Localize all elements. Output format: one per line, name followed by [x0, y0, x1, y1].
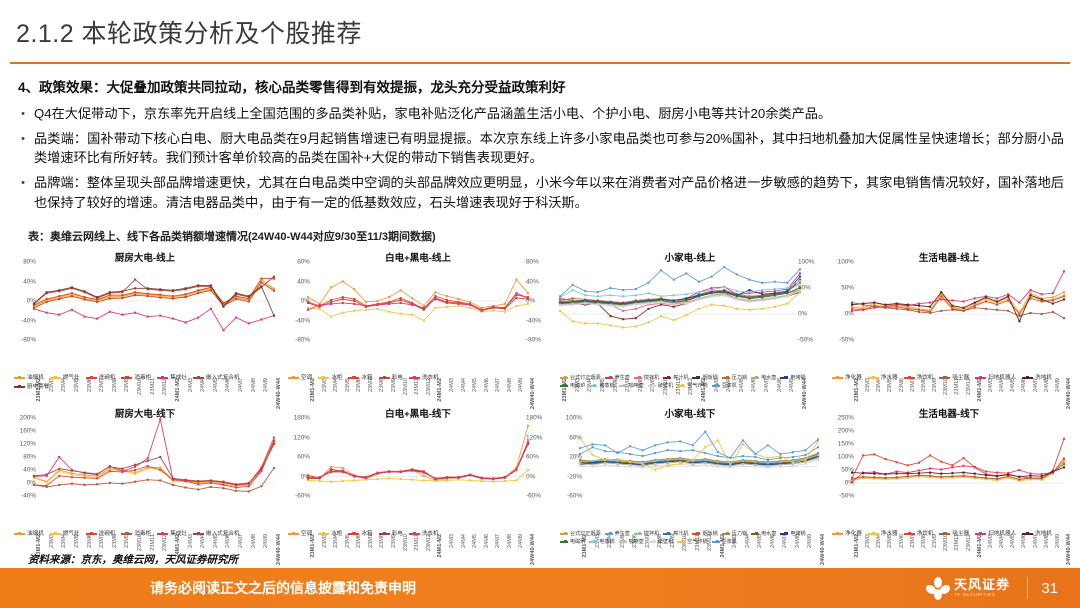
x-tick-label: 24W40-W44 [1066, 534, 1072, 565]
legend-label: 吸尘器 [952, 374, 969, 382]
plot-area [282, 418, 554, 496]
legend-swatch-icon [904, 533, 915, 535]
legend-label: 电蒸锅 [599, 382, 614, 390]
legend-item: 净饮机 [904, 374, 934, 382]
bullet-text: 品类端：国补带动下核心白电、厨大电品类在9月起销售增速已有明显提振。本次京东线上… [34, 129, 1064, 169]
chart-title: 白电+黑电-线上 [282, 250, 554, 264]
legend-item: 电水壶 [751, 374, 776, 382]
legend-item: 吸尘器 [939, 374, 969, 382]
legend-label: 冰箱 [361, 530, 372, 538]
chart-white-black-offline: 白电+黑电-线下180%120%60%0%-60%180%120%60%0%-6… [282, 404, 554, 556]
legend-swatch-icon [560, 533, 568, 535]
legend-item: 净化器 [832, 374, 862, 382]
legend-label: 油烟机 [27, 374, 44, 382]
legend-item: 洗碗机 [86, 374, 116, 382]
legend-label: 空调 [301, 530, 312, 538]
legend-item: 空气炸锅 [677, 382, 707, 390]
plot-area [554, 418, 826, 496]
legend-label: 破壁机 [658, 538, 673, 546]
legend-item: 嵌入式复合机 [193, 374, 240, 382]
chart-legend: 油烟机燃气灶洗碗机消毒柜集成灶嵌入式复合机厨电套餐 [14, 374, 278, 391]
legend-swatch-icon [605, 377, 613, 379]
legend-label: 厨电套餐 [27, 383, 49, 391]
legend-label: 油烟机 [27, 530, 44, 538]
legend-label: 燃气灶 [63, 374, 80, 382]
legend-swatch-icon [318, 377, 329, 379]
legend-label: 豆浆机 [722, 382, 737, 390]
chart-legend: 净化器净水器净饮机吸尘器扫地机器人洗地机 [832, 530, 1068, 538]
legend-item: 洗碗机 [86, 530, 116, 538]
legend-item: 嵌入式复合机 [193, 530, 240, 538]
legend-item: 消毒柜 [121, 530, 151, 538]
legend-label: 冰柜 [331, 530, 342, 538]
legend-swatch-icon [157, 377, 168, 379]
legend-swatch-icon [14, 533, 25, 535]
legend-item: 彩电 [379, 374, 403, 382]
charts-grid: 厨房大电-线上80%40%0%-40%-80%23M1-M223M323M423… [8, 248, 1072, 556]
legend-item: 油烟机 [14, 530, 44, 538]
legend-item: 净化器 [832, 530, 862, 538]
chart-living-appliance-offline: 生活电器-线下250%200%150%100%50%0%-50%23M1-M22… [826, 404, 1072, 556]
legend-label: 净水器 [881, 530, 898, 538]
legend-item: 空气炸锅 [677, 538, 707, 546]
chart-kitchen-major-online: 厨房大电-线上80%40%0%-40%-80%23M1-M223M323M423… [8, 248, 282, 400]
policy-effect-heading: 4、政策效果：大促叠加政策共同拉动，核心品类零售得到有效提振，龙头充分受益政策利… [18, 78, 1064, 98]
chart-title: 生活电器-线下 [826, 406, 1072, 420]
chart-title: 生活电器-线上 [826, 250, 1072, 264]
legend-swatch-icon [86, 377, 97, 379]
legend-label: 扫地机器人 [988, 374, 1016, 382]
legend-item: 扫地机器人 [975, 530, 1016, 538]
legend-label: 净化器 [845, 530, 862, 538]
legend-item: 养生壶 [605, 530, 630, 538]
legend-item: 压力锅 [722, 530, 747, 538]
brand-logo: 天风证券 TF SECURITIES [927, 577, 1010, 599]
legend-label: 彩电 [392, 530, 403, 538]
legend-item: 扫地机器人 [975, 374, 1016, 382]
legend-label: 压力锅 [732, 530, 747, 538]
chart-legend: 净化器净水器净饮机吸尘器扫地机器人洗地机 [832, 374, 1068, 382]
legend-swatch-icon [14, 386, 25, 388]
legend-item: 养生壶 [605, 374, 630, 382]
legend-swatch-icon [121, 377, 132, 379]
plot-area [8, 418, 282, 496]
legend-item: 搅拌机 [634, 374, 659, 382]
legend-swatch-icon [634, 533, 642, 535]
legend-swatch-icon [868, 377, 879, 379]
legend-label: 洗地机 [1035, 374, 1052, 382]
legend-item: 榨汁机 [663, 530, 688, 538]
legend-swatch-icon [348, 533, 359, 535]
page-separator [1027, 577, 1028, 599]
legend-label: 电磁炉 [570, 538, 585, 546]
legend-item: 冰柜 [318, 530, 342, 538]
legend-swatch-icon [589, 541, 597, 543]
legend-label: 集成灶 [170, 530, 187, 538]
legend-item: 电水壶 [751, 530, 776, 538]
legend-swatch-icon [193, 533, 204, 535]
legend-item: 破壁机 [648, 538, 673, 546]
legend-item: 搅拌机 [634, 530, 659, 538]
legend-label: 净饮机 [917, 530, 934, 538]
legend-label: 电磁炉 [570, 382, 585, 390]
table-caption: 表：奥维云网线上、线下各品类销额增速情况(24W40-W44对应9/30至11/… [28, 228, 436, 244]
legend-item: 压力锅 [722, 374, 747, 382]
chart-title: 小家电-线上 [554, 250, 826, 264]
legend-swatch-icon [560, 541, 568, 543]
legend-swatch-icon [677, 541, 685, 543]
legend-swatch-icon [975, 377, 986, 379]
plot-area [554, 262, 826, 340]
legend-swatch-icon [560, 385, 568, 387]
legend-label: 洗衣机 [422, 374, 439, 382]
legend-item: 冰箱 [348, 374, 372, 382]
chart-title: 厨房大电-线下 [8, 406, 282, 420]
charts-row-offline: 厨房大电-线下200%160%120%80%40%0%-40%23M1-M223… [8, 404, 1072, 556]
plot-area [282, 262, 554, 340]
chart-small-appliance-offline: 小家电-线下100%60%20%-20%-60%23M1-M223M323M42… [554, 404, 826, 556]
legend-swatch-icon [975, 533, 986, 535]
bullet-text: 品牌端：整体呈现头部品牌增速更快，尤其在白电品类中空调的头部品牌效应更明显，小米… [34, 173, 1064, 213]
legend-label: 破壁机 [658, 382, 673, 390]
legend-swatch-icon [722, 533, 730, 535]
chart-legend: 空调冰柜冰箱彩电洗衣机 [288, 374, 550, 382]
legend-swatch-icon [409, 533, 420, 535]
legend-label: 电水壶 [761, 374, 776, 382]
legend-label: 扫地机器人 [988, 530, 1016, 538]
legend-swatch-icon [1022, 533, 1033, 535]
legend-label: 压力锅 [732, 374, 747, 382]
legend-label: 台式灯正烟源 [570, 530, 601, 538]
legend-item: 咖啡壶 [619, 382, 644, 390]
chart-legend: 空调冰柜冰箱彩电洗衣机 [288, 530, 550, 538]
legend-swatch-icon [288, 377, 299, 379]
legend-swatch-icon [50, 377, 61, 379]
legend-swatch-icon [939, 377, 950, 379]
legend-swatch-icon [1022, 377, 1033, 379]
legend-item: 电磁炉 [560, 382, 585, 390]
legend-swatch-icon [379, 533, 390, 535]
legend-label: 冰柜 [331, 374, 342, 382]
legend-label: 消毒柜 [134, 374, 151, 382]
body-content: 4、政策效果：大促叠加政策共同拉动，核心品类零售得到有效提振，龙头充分受益政策利… [18, 78, 1064, 218]
legend-item: 台式灯正烟源 [560, 374, 601, 382]
legend-swatch-icon [904, 377, 915, 379]
legend-item: 洗衣机 [409, 530, 439, 538]
legend-label: 养生壶 [615, 530, 630, 538]
legend-swatch-icon [692, 533, 700, 535]
footer-bar: 请务必阅读正文之后的信息披露和免责申明 天风证券 TF SECURITIES 3… [0, 568, 1080, 608]
legend-item: 集成灶 [157, 530, 187, 538]
chart-legend: 台式灯正烟源养生壶搅拌机榨汁机烟饭锅压力锅电水壶电烤锅电磁炉电蒸锅咖啡壶破壁机空… [560, 374, 822, 390]
legend-label: 净饮机 [917, 374, 934, 382]
chart-small-appliance-online: 小家电-线上100%50%0%-50%23M1-M223M323M423M523… [554, 248, 826, 400]
legend-swatch-icon [409, 377, 420, 379]
legend-item: 电磁炉 [560, 538, 585, 546]
page-number: 31 [1041, 580, 1058, 597]
legend-label: 洗地机 [1035, 530, 1052, 538]
legend-swatch-icon [663, 533, 671, 535]
legend-item: 豆浆机 [712, 382, 737, 390]
legend-item: 燃气灶 [50, 530, 80, 538]
legend-item: 烟饭锅 [692, 374, 717, 382]
title-divider [10, 62, 1070, 64]
legend-label: 电蒸锅 [599, 538, 614, 546]
page-title: 2.1.2 本轮政策分析及个股推荐 [16, 14, 362, 50]
legend-item: 吸尘器 [939, 530, 969, 538]
legend-label: 空气炸锅 [687, 538, 707, 546]
legend-item: 油烟机 [14, 374, 44, 382]
legend-item: 电蒸锅 [589, 538, 614, 546]
legend-swatch-icon [589, 385, 597, 387]
legend-label: 电烤锅 [790, 374, 805, 382]
bullet-item: • 品类端：国补带动下核心白电、厨大电品类在9月起销售增速已有明显提振。本次京东… [18, 129, 1064, 169]
legend-item: 空调 [288, 374, 312, 382]
legend-item: 电烤锅 [780, 530, 805, 538]
legend-label: 洗碗机 [99, 530, 116, 538]
legend-item: 净水器 [868, 374, 898, 382]
legend-label: 烟饭锅 [702, 374, 717, 382]
legend-swatch-icon [751, 377, 759, 379]
chart-legend: 油烟机燃气灶洗碗机消毒柜集成灶嵌入式复合机 [14, 530, 278, 538]
legend-item: 冰柜 [318, 374, 342, 382]
legend-item: 冰箱 [348, 530, 372, 538]
bullet-dot-icon: • [18, 173, 28, 213]
legend-label: 电烤锅 [790, 530, 805, 538]
legend-label: 电水壶 [761, 530, 776, 538]
legend-label: 嵌入式复合机 [206, 374, 240, 382]
legend-item: 电烤锅 [780, 374, 805, 382]
legend-label: 洗碗机 [99, 374, 116, 382]
chart-white-black-online: 白电+黑电-线上80%40%0%-40%-80%80%40%0%-40%-80%… [282, 248, 554, 400]
legend-swatch-icon [712, 541, 720, 543]
legend-item: 集成灶 [157, 374, 187, 382]
legend-label: 空气炸锅 [687, 382, 707, 390]
brand-name-cn: 天风证券 [954, 578, 1010, 591]
legend-item: 彩电 [379, 530, 403, 538]
legend-label: 洗衣机 [422, 530, 439, 538]
legend-item: 燃气灶 [50, 374, 80, 382]
legend-swatch-icon [692, 377, 700, 379]
legend-swatch-icon [780, 377, 788, 379]
legend-swatch-icon [121, 533, 132, 535]
legend-item: 净水器 [868, 530, 898, 538]
legend-swatch-icon [348, 377, 359, 379]
bullet-text: Q4在大促带动下，京东率先开启线上全国范围的多品类补贴，家电补贴泛化产品涵盖生活… [34, 104, 831, 124]
legend-swatch-icon [157, 533, 168, 535]
legend-item: 破壁机 [648, 382, 673, 390]
legend-swatch-icon [648, 541, 656, 543]
legend-item: 洗衣机 [409, 374, 439, 382]
legend-item: 净饮机 [904, 530, 934, 538]
legend-swatch-icon [193, 377, 204, 379]
bullet-dot-icon: • [18, 104, 28, 124]
legend-swatch-icon [379, 377, 390, 379]
legend-item: 咖啡壶 [619, 538, 644, 546]
legend-swatch-icon [634, 377, 642, 379]
legend-label: 嵌入式复合机 [206, 530, 240, 538]
chart-title: 白电+黑电-线下 [282, 406, 554, 420]
chart-living-appliance-online: 生活电器-线上100%50%0%-50%23M1-M223M323M423M52… [826, 248, 1072, 400]
brand-name-en: TF SECURITIES [954, 593, 1010, 598]
legend-swatch-icon [50, 533, 61, 535]
legend-item: 榨汁机 [663, 374, 688, 382]
legend-label: 消毒柜 [134, 530, 151, 538]
legend-swatch-icon [605, 533, 613, 535]
legend-label: 净水器 [881, 374, 898, 382]
legend-item: 消毒柜 [121, 374, 151, 382]
legend-swatch-icon [780, 533, 788, 535]
chart-title: 厨房大电-线上 [8, 250, 282, 264]
tianfeng-logo-icon [927, 577, 949, 599]
legend-label: 搅拌机 [644, 530, 659, 538]
legend-label: 净化器 [845, 374, 862, 382]
legend-swatch-icon [832, 377, 843, 379]
legend-label: 集成灶 [170, 374, 187, 382]
plot-area [826, 262, 1072, 340]
legend-label: 搅拌机 [644, 374, 659, 382]
legend-label: 冰箱 [361, 374, 372, 382]
legend-item: 电蒸锅 [589, 382, 614, 390]
legend-swatch-icon [751, 533, 759, 535]
bullet-dot-icon: • [18, 129, 28, 169]
legend-swatch-icon [318, 533, 329, 535]
legend-item: 洗地机 [1022, 374, 1052, 382]
legend-swatch-icon [288, 533, 299, 535]
charts-row-online: 厨房大电-线上80%40%0%-40%-80%23M1-M223M323M423… [8, 248, 1072, 400]
legend-item: 烟饭锅 [692, 530, 717, 538]
chart-title: 小家电-线下 [554, 406, 826, 420]
legend-swatch-icon [14, 377, 25, 379]
x-tick-label: 24W40-W44 [530, 534, 536, 565]
legend-swatch-icon [648, 385, 656, 387]
legend-swatch-icon [663, 377, 671, 379]
bullet-item: • Q4在大促带动下，京东率先开启线上全国范围的多品类补贴，家电补贴泛化产品涵盖… [18, 104, 1064, 124]
bullet-item: • 品牌端：整体呈现头部品牌增速更快，尤其在白电品类中空调的头部品牌效应更明显，… [18, 173, 1064, 213]
legend-label: 榨汁机 [673, 530, 688, 538]
legend-swatch-icon [677, 385, 685, 387]
plot-area [826, 418, 1072, 496]
footer-disclaimer: 请务必阅读正文之后的信息披露和免责申明 [150, 578, 416, 598]
legend-label: 榨汁机 [673, 374, 688, 382]
legend-label: 咖啡壶 [629, 382, 644, 390]
legend-item: 空调 [288, 530, 312, 538]
chart-kitchen-major-offline: 厨房大电-线下200%160%120%80%40%0%-40%23M1-M223… [8, 404, 282, 556]
legend-swatch-icon [619, 385, 627, 387]
legend-label: 养生壶 [615, 374, 630, 382]
legend-item: 厨电套餐 [14, 383, 49, 391]
chart-legend: 台式灯正烟源养生壶搅拌机榨汁机烟饭锅压力锅电水壶电烤锅电磁炉电蒸锅咖啡壶破壁机空… [560, 530, 822, 546]
legend-swatch-icon [560, 377, 568, 379]
legend-swatch-icon [619, 541, 627, 543]
legend-label: 台式灯正烟源 [570, 374, 601, 382]
legend-swatch-icon [86, 533, 97, 535]
legend-swatch-icon [832, 533, 843, 535]
legend-swatch-icon [712, 385, 720, 387]
legend-label: 咖啡壶 [629, 538, 644, 546]
legend-item: 台式灯正烟源 [560, 530, 601, 538]
legend-item: 豆浆机 [712, 538, 737, 546]
legend-item: 洗地机 [1022, 530, 1052, 538]
legend-label: 豆浆机 [722, 538, 737, 546]
plot-area [8, 262, 282, 340]
legend-swatch-icon [722, 377, 730, 379]
legend-label: 空调 [301, 374, 312, 382]
legend-label: 彩电 [392, 374, 403, 382]
legend-swatch-icon [868, 533, 879, 535]
legend-label: 吸尘器 [952, 530, 969, 538]
legend-swatch-icon [939, 533, 950, 535]
source-note: 资料来源：京东，奥维云网，天风证券研究所 [28, 552, 238, 567]
legend-label: 烟饭锅 [702, 530, 717, 538]
legend-label: 燃气灶 [63, 530, 80, 538]
